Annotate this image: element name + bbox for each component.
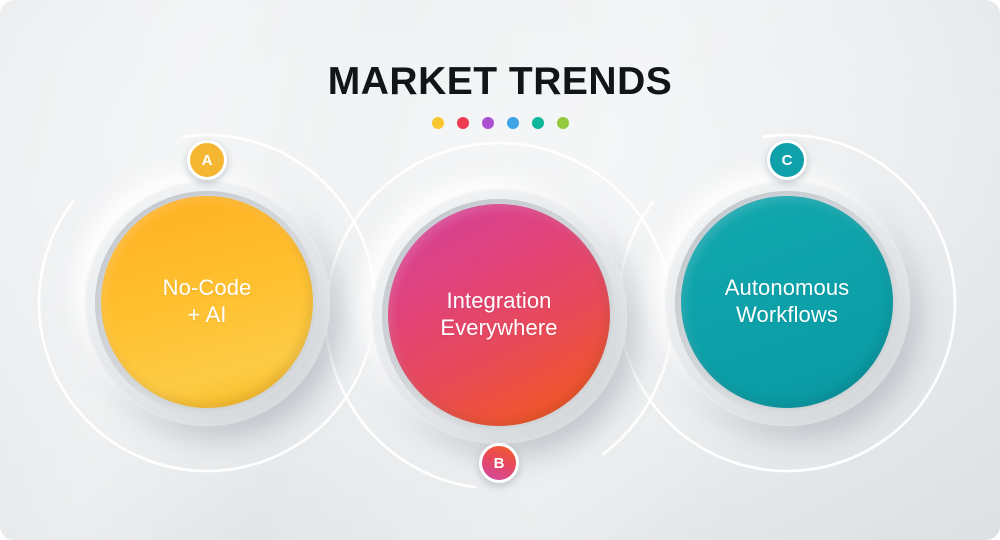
node-c-badge[interactable]: C (767, 140, 807, 180)
infographic-poster: MARKET TRENDS No-Code + AI A (0, 0, 1000, 540)
node-c-disc[interactable]: Autonomous Workflows (681, 196, 893, 408)
node-a-disc[interactable]: No-Code + AI (101, 196, 313, 408)
dot-green (557, 117, 569, 129)
trend-node-b[interactable]: Integration Everywhere B (353, 170, 645, 462)
dot-blue (507, 117, 519, 129)
node-b-disc[interactable]: Integration Everywhere (388, 204, 610, 426)
color-dot-row (0, 117, 1000, 129)
dot-red (457, 117, 469, 129)
dot-purple (482, 117, 494, 129)
dot-teal (532, 117, 544, 129)
node-a-badge[interactable]: A (187, 140, 227, 180)
page-title: MARKET TRENDS (0, 62, 1000, 101)
dot-amber (432, 117, 444, 129)
node-a-label: No-Code + AI (149, 275, 266, 329)
node-c-label: Autonomous Workflows (711, 275, 864, 329)
node-b-badge[interactable]: B (479, 443, 519, 483)
poster-header: MARKET TRENDS (0, 62, 1000, 129)
node-b-label: Integration Everywhere (426, 288, 571, 342)
trend-node-a[interactable]: No-Code + AI A (66, 162, 348, 444)
trend-node-c[interactable]: Autonomous Workflows C (646, 162, 928, 444)
